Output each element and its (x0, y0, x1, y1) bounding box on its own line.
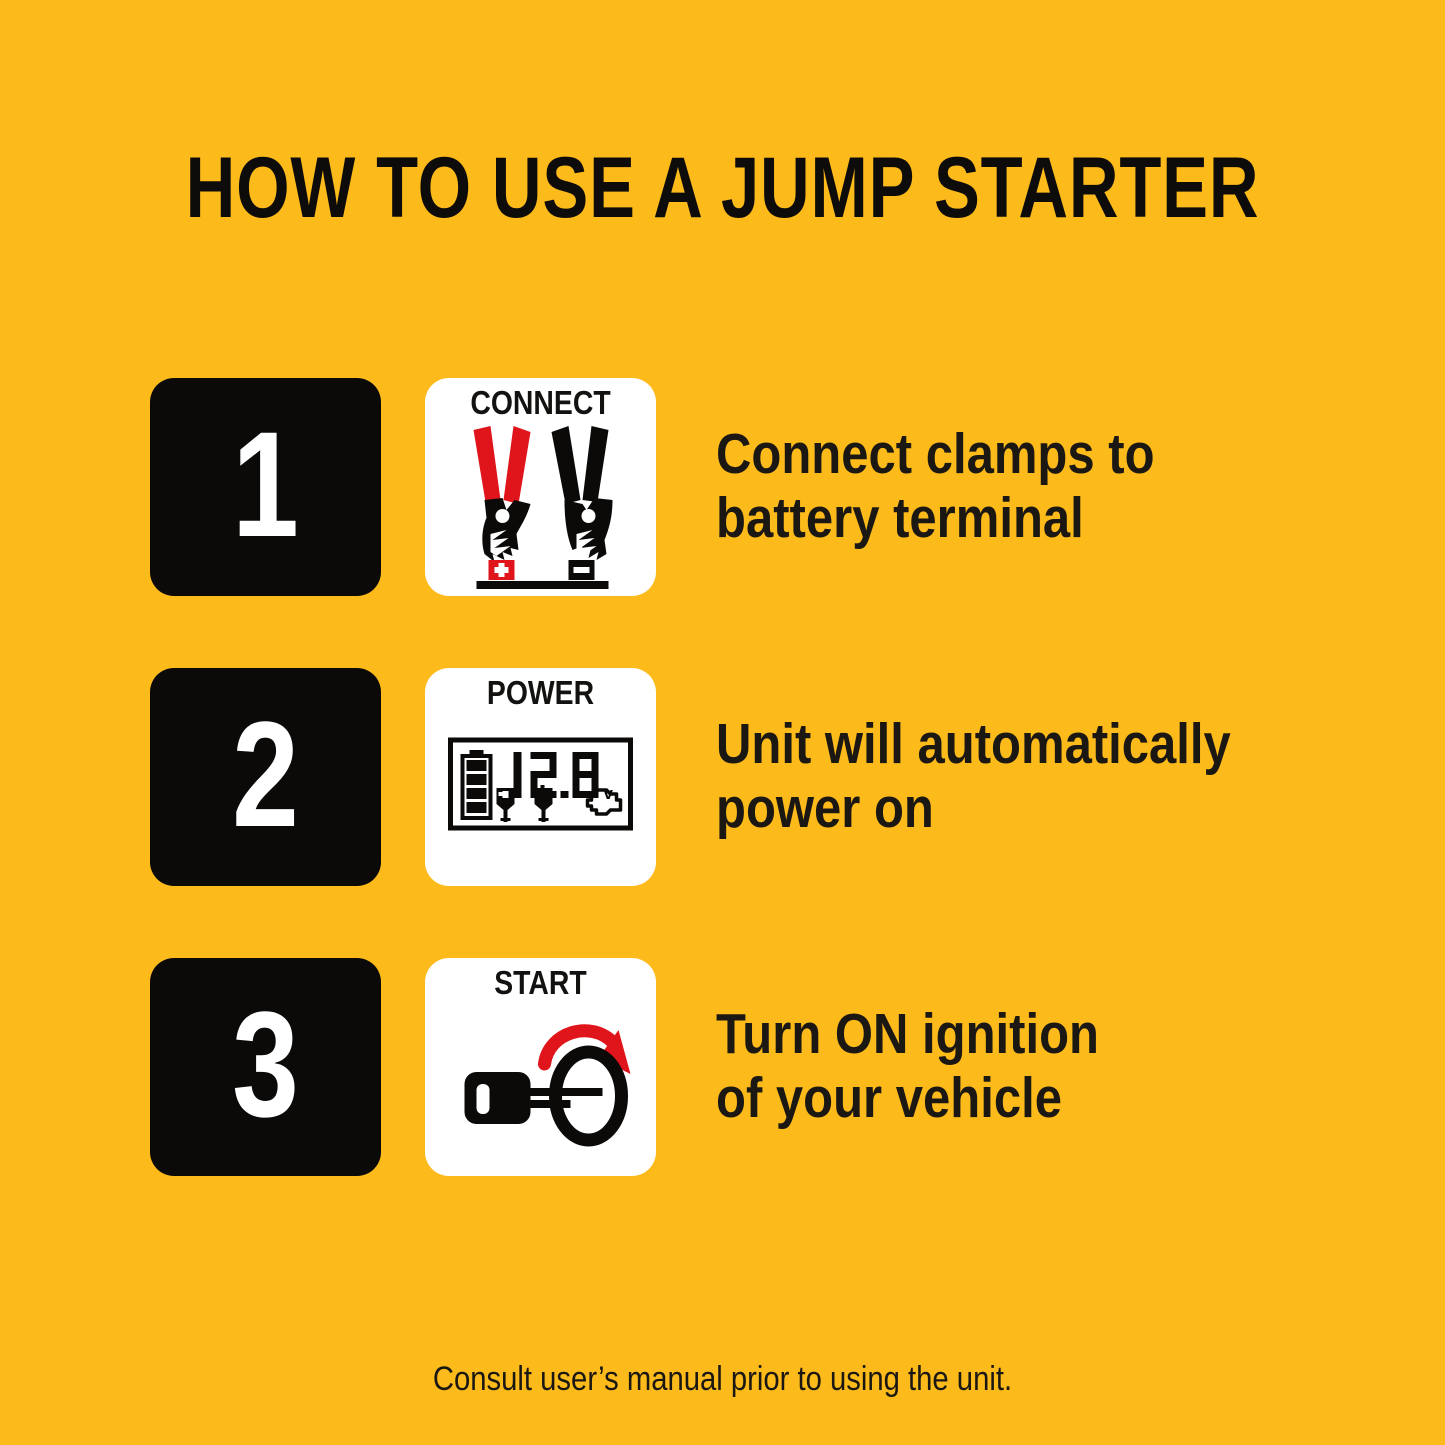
steps-list: 1 CONNECT (0, 378, 1445, 1248)
ignition-key-icon (425, 1002, 656, 1170)
step-number-tile-1: 1 (150, 378, 381, 596)
step-description-3-line1: Turn ON ignition (716, 1003, 1266, 1067)
step-description-1: Connect clamps to battery terminal (716, 378, 1266, 596)
step-row-2: 2 POWER (0, 668, 1445, 958)
icon-label-connect: CONNECT (441, 386, 640, 419)
icon-label-start: START (441, 966, 640, 999)
step-icon-tile-1: CONNECT (425, 378, 656, 596)
step-icon-tile-3: START (425, 958, 656, 1176)
step-number-3: 3 (173, 958, 358, 1176)
step-description-1-line2: battery terminal (716, 487, 1266, 551)
step-number-1: 1 (173, 378, 358, 596)
step-row-3: 3 START (0, 958, 1445, 1248)
lcd-display-icon: v (425, 712, 656, 880)
step-row-1: 1 CONNECT (0, 378, 1445, 668)
step-description-1-line1: Connect clamps to (716, 423, 1266, 487)
step-description-2: Unit will automatically power on (716, 668, 1266, 886)
infographic-page: HOW TO USE A JUMP STARTER 1 CONNECT (0, 0, 1445, 1445)
step-description-2-line1: Unit will automatically (716, 713, 1266, 777)
page-title: HOW TO USE A JUMP STARTER (145, 145, 1301, 231)
icon-label-power: POWER (441, 676, 640, 709)
step-number-2: 2 (173, 668, 358, 886)
step-description-3: Turn ON ignition of your vehicle (716, 958, 1266, 1176)
battery-clamps-icon (425, 422, 656, 590)
footer-note: Consult user’s manual prior to using the… (101, 1362, 1344, 1396)
step-number-tile-2: 2 (150, 668, 381, 886)
step-icon-tile-2: POWER (425, 668, 656, 886)
step-description-2-line2: power on (716, 777, 1266, 841)
step-number-tile-3: 3 (150, 958, 381, 1176)
step-description-3-line2: of your vehicle (716, 1067, 1266, 1131)
